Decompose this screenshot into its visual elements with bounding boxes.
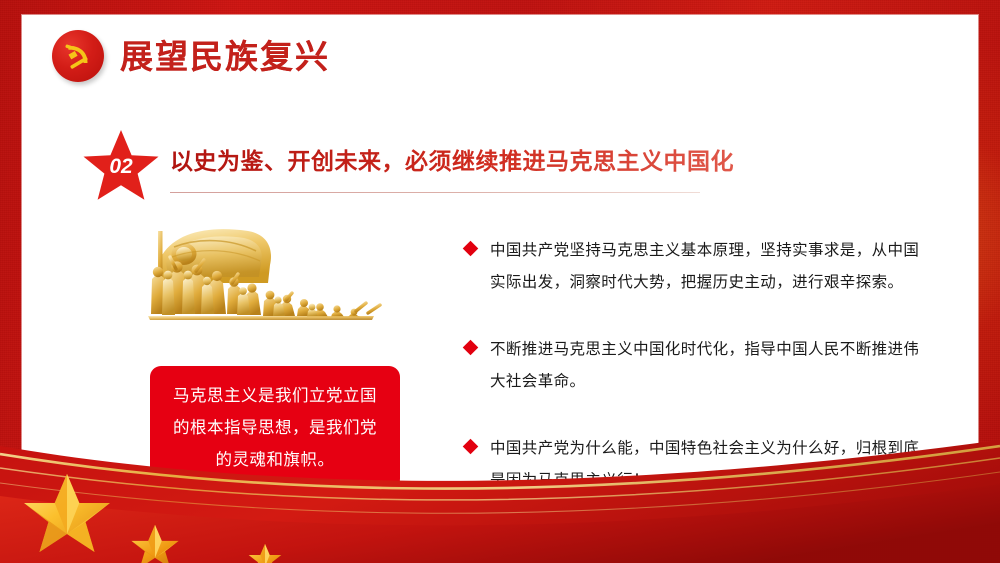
slide-content-card: 展望民族复兴 02 以史为鉴、开创未来，必须继续推进马克思主义中国化	[22, 15, 978, 493]
presentation-slide: 展望民族复兴 02 以史为鉴、开创未来，必须继续推进马克思主义中国化	[0, 0, 1000, 563]
highlight-quote-box: 马克思主义是我们立党立国的根本指导思想，是我们党的灵魂和旗帜。	[150, 366, 400, 490]
bullet-text: 中国共产党为什么能，中国特色社会主义为什么好，归根到底是因为马克思主义行！	[490, 433, 935, 493]
section-divider	[170, 192, 700, 193]
red-diamond-bullet-icon	[463, 241, 479, 257]
red-diamond-bullet-icon	[463, 340, 479, 356]
bullet-text: 不断推进马克思主义中国化时代化，指导中国人民不断推进伟大社会革命。	[490, 334, 935, 398]
bullet-text: 中国共产党坚持马克思主义基本原理，坚持实事求是，从中国实际出发，洞察时代大势，把…	[490, 235, 935, 299]
list-item: 中国共产党为什么能，中国特色社会主义为什么好，归根到底是因为马克思主义行！	[465, 433, 935, 493]
list-item: 不断推进马克思主义中国化时代化，指导中国人民不断推进伟大社会革命。	[465, 334, 935, 398]
section-number: 02	[82, 155, 160, 179]
quote-text: 马克思主义是我们立党立国的根本指导思想，是我们党的灵魂和旗帜。	[170, 380, 380, 476]
red-diamond-bullet-icon	[463, 439, 479, 455]
red-star-icon: 02	[82, 128, 160, 202]
page-title: 展望民族复兴	[120, 40, 330, 73]
slide-header: 展望民族复兴	[52, 30, 330, 82]
cpc-hammer-sickle-emblem-icon	[52, 30, 104, 82]
bullet-list: 中国共产党坚持马克思主义基本原理，坚持实事求是，从中国实际出发，洞察时代大势，把…	[465, 235, 935, 493]
section-heading-block: 02 以史为鉴、开创未来，必须继续推进马克思主义中国化	[82, 128, 722, 202]
list-item: 中国共产党坚持马克思主义基本原理，坚持实事求是，从中国实际出发，洞察时代大势，把…	[465, 235, 935, 299]
section-heading-text: 以史为鉴、开创未来，必须继续推进马克思主义中国化	[170, 142, 734, 176]
golden-revolutionary-relief-sculpture	[140, 217, 420, 352]
